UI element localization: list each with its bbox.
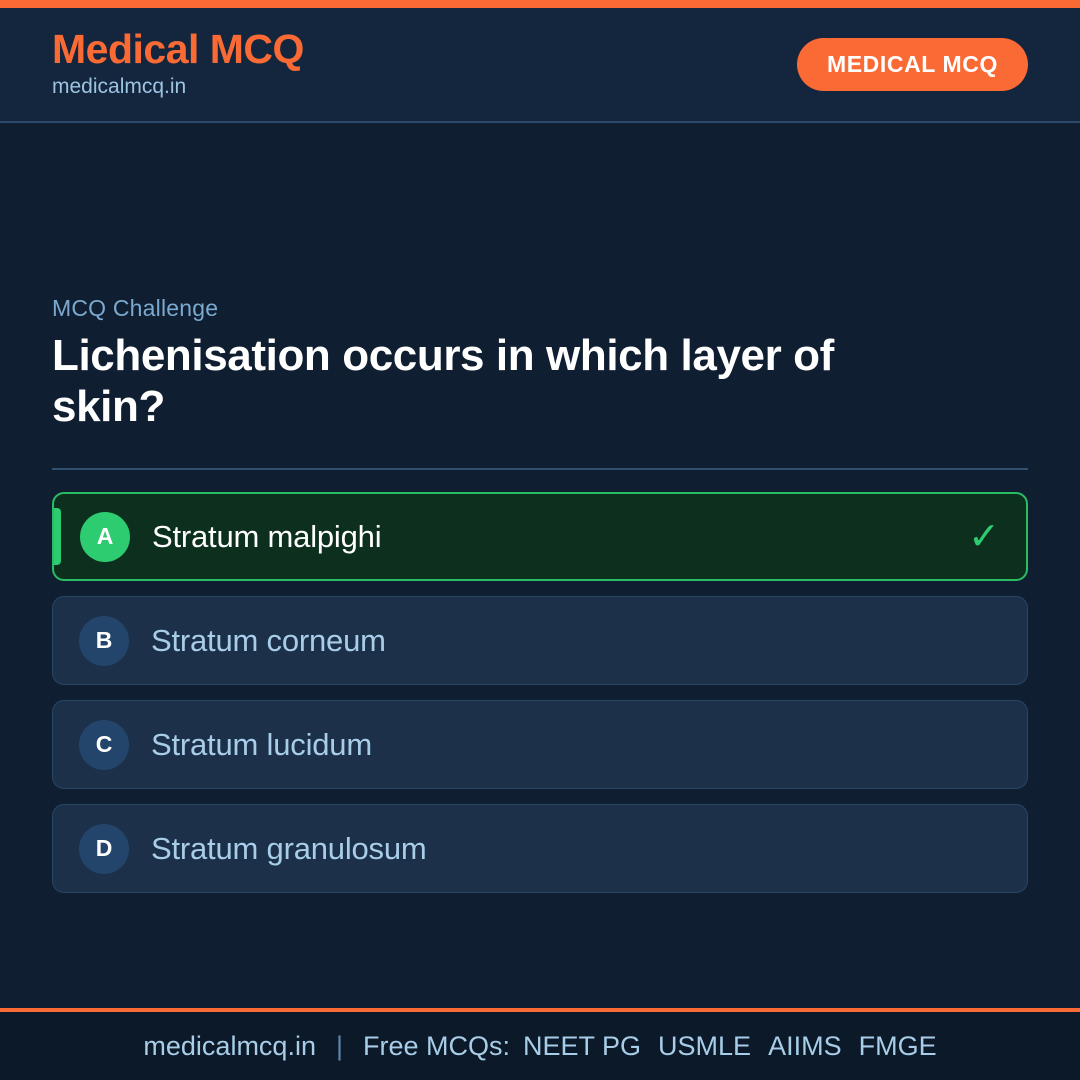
brand-block: Medical MCQ medicalmcq.in (52, 27, 304, 102)
option-c-badge: C (79, 720, 129, 770)
check-icon: ✓ (968, 518, 1000, 556)
footer-exam-neetpg: NEET PG (523, 1031, 641, 1062)
footer-exam-fmge: FMGE (859, 1031, 937, 1062)
main-content: MCQ Challenge Lichenisation occurs in wh… (0, 123, 1080, 1008)
brand-title: Medical MCQ (52, 27, 304, 71)
footer-exam-usmle: USMLE (658, 1031, 751, 1062)
footer-exam-aiims: AIIMS (768, 1031, 842, 1062)
footer-exam-list: NEET PG USMLE AIIMS FMGE (523, 1031, 937, 1062)
header: Medical MCQ medicalmcq.in MEDICAL MCQ (0, 8, 1080, 123)
option-d-label: Stratum granulosum (151, 831, 427, 867)
footer-prefix: Free MCQs: (363, 1031, 510, 1062)
option-a-badge: A (80, 512, 130, 562)
option-b-badge: B (79, 616, 129, 666)
brand-domain: medicalmcq.in (52, 73, 304, 101)
option-b[interactable]: B Stratum corneum (52, 596, 1028, 685)
footer-site[interactable]: medicalmcq.in (143, 1031, 316, 1062)
question-divider (52, 468, 1028, 470)
option-b-label: Stratum corneum (151, 623, 386, 659)
option-d[interactable]: D Stratum granulosum (52, 804, 1028, 893)
option-c-label: Stratum lucidum (151, 727, 372, 763)
footer-inner: medicalmcq.in | Free MCQs: NEET PG USMLE… (143, 1031, 936, 1062)
header-badge[interactable]: MEDICAL MCQ (797, 38, 1028, 91)
top-accent-bar (0, 0, 1080, 8)
option-a[interactable]: A Stratum malpighi ✓ (52, 492, 1028, 581)
footer: medicalmcq.in | Free MCQs: NEET PG USMLE… (0, 1008, 1080, 1080)
question-zone: MCQ Challenge Lichenisation occurs in wh… (52, 295, 1028, 432)
option-a-label: Stratum malpighi (152, 519, 381, 555)
question-text: Lichenisation occurs in which layer of s… (52, 330, 932, 432)
option-c[interactable]: C Stratum lucidum (52, 700, 1028, 789)
footer-separator: | (329, 1031, 350, 1062)
correct-accent-bar (54, 508, 61, 565)
option-d-badge: D (79, 824, 129, 874)
mcq-poster: Medical MCQ medicalmcq.in MEDICAL MCQ MC… (0, 0, 1080, 1080)
options-list: A Stratum malpighi ✓ B Stratum corneum C… (52, 492, 1028, 893)
question-kicker: MCQ Challenge (52, 295, 1028, 322)
